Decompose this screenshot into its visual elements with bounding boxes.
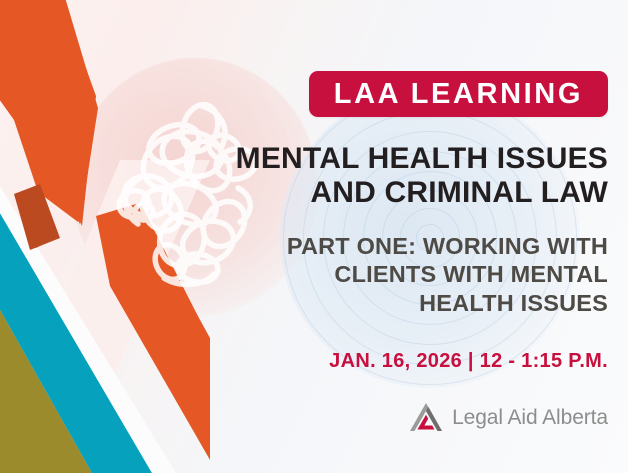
page-subtitle: PART ONE: WORKING WITH CLIENTS WITH MENT…	[20, 232, 608, 317]
page-subtitle-line-1: PART ONE: WORKING WITH	[20, 232, 608, 260]
event-datetime: JAN. 16, 2026 | 12 - 1:15 P.M.	[20, 350, 608, 373]
laa-learning-badge: LAA LEARNING	[309, 71, 608, 117]
page-subtitle-line-2: CLIENTS WITH MENTAL	[20, 260, 608, 288]
page-title-line-1: MENTAL HEALTH ISSUES	[20, 142, 608, 176]
banner-content: LAA LEARNING MENTAL HEALTH ISSUES AND CR…	[0, 0, 628, 473]
page-title-line-2: AND CRIMINAL LAW	[20, 176, 608, 210]
event-banner: LAA LEARNING MENTAL HEALTH ISSUES AND CR…	[0, 0, 628, 473]
legal-aid-alberta-logo-text: Legal Aid Alberta	[452, 406, 608, 430]
page-subtitle-line-3: HEALTH ISSUES	[20, 289, 608, 317]
legal-aid-alberta-logo: Legal Aid Alberta	[409, 402, 608, 433]
laa-learning-badge-label: LAA LEARNING	[334, 80, 583, 109]
page-title: MENTAL HEALTH ISSUES AND CRIMINAL LAW	[20, 142, 608, 210]
triangle-logo-icon	[409, 402, 443, 433]
